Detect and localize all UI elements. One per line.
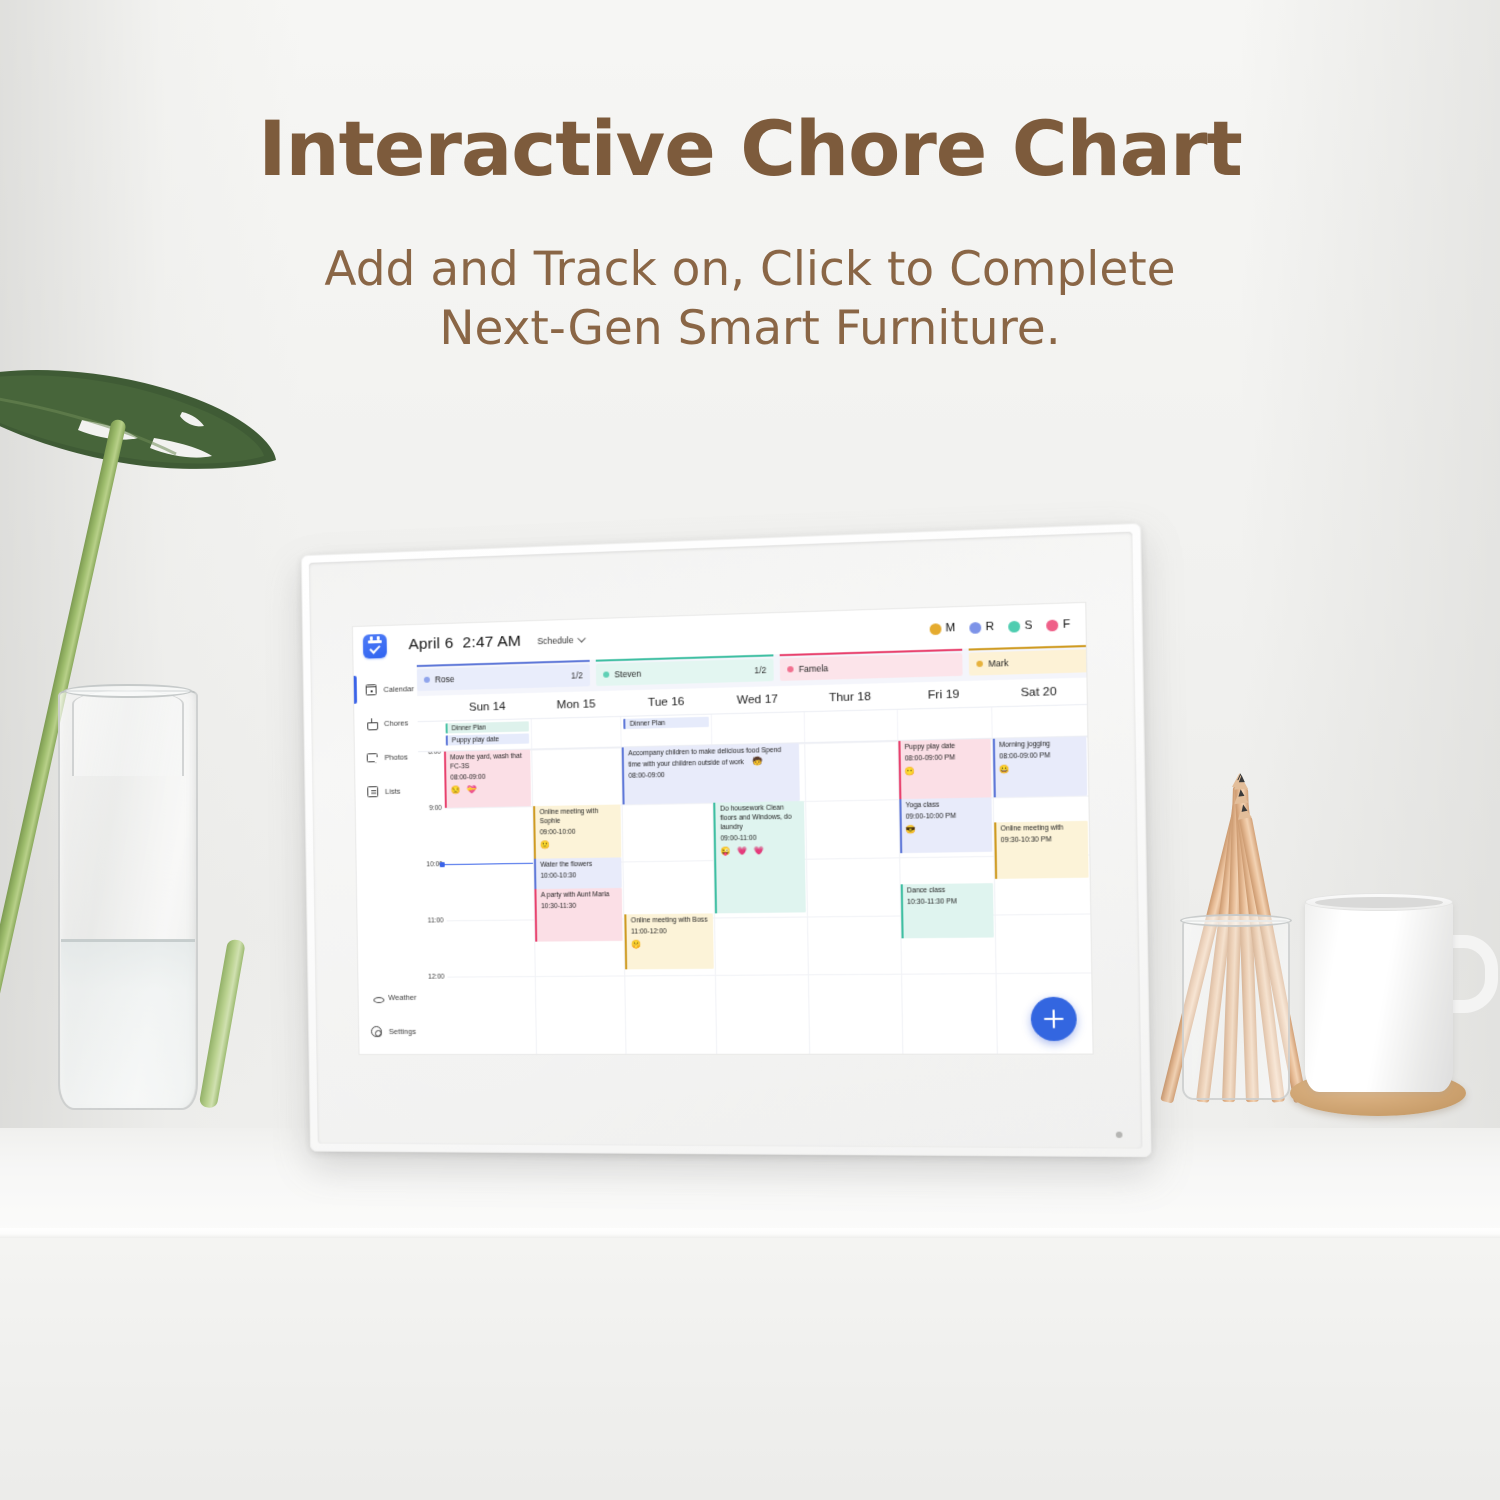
sidebar-item-chores[interactable]: Chores <box>354 705 418 741</box>
day-column-sun[interactable]: Mow the yard, wash that FC-3S 08:00-09:0… <box>444 750 537 1054</box>
person-chip-steven[interactable]: Steven 1/2 <box>596 658 774 686</box>
day-header-thur[interactable]: Thur 18 <box>803 690 896 705</box>
sidebar-label-photos: Photos <box>384 752 408 762</box>
event-title: Puppy play date <box>904 742 986 753</box>
event-emoji: 😎 <box>906 824 988 837</box>
person-chip-famela[interactable]: Famela <box>780 653 963 681</box>
day-header-mon[interactable]: Mon 15 <box>531 697 621 712</box>
sidebar-item-weather[interactable]: Weather <box>358 980 422 1014</box>
view-selector-label: Schedule <box>537 635 573 646</box>
gear-icon <box>371 1026 382 1037</box>
event-time: 09:00-11:00 <box>720 834 800 844</box>
event-title: Water the flowers <box>540 861 618 871</box>
event-card[interactable]: Puppy play date 08:00-09:00 PM 😶 <box>898 739 991 799</box>
person-dot-mark <box>976 661 983 667</box>
event-time: 08:00-09:00 <box>628 769 795 782</box>
device-sensor-dot <box>1116 1132 1123 1138</box>
white-mug <box>1305 900 1453 1092</box>
event-emoji: 🙂 <box>540 839 618 851</box>
promo-subheadline: Add and Track on, Click to Complete Next… <box>0 240 1500 358</box>
event-time: 08:00-09:00 PM <box>999 751 1082 762</box>
chevron-down-icon <box>578 634 587 643</box>
person-dot-steven <box>603 671 609 677</box>
vase-lip <box>64 684 192 698</box>
event-time: 09:30-10:30 PM <box>1001 836 1084 847</box>
day-column-fri[interactable]: Puppy play date 08:00-09:00 PM 😶 Yoga cl… <box>898 739 998 1054</box>
event-title: Online meeting with Boss <box>631 917 710 927</box>
event-time: 10:30-11:30 <box>541 902 619 912</box>
time-label: 12:00 <box>428 974 445 981</box>
event-card[interactable]: Dance class 10:30-11:30 PM <box>900 883 993 938</box>
vase-neck <box>72 690 184 776</box>
sidebar-item-calendar[interactable]: Calendar <box>354 671 418 707</box>
all-day-event[interactable]: Puppy play date <box>446 733 530 745</box>
legend-label-f: F <box>1063 618 1071 631</box>
event-title: Accompany children to make delicious foo… <box>628 747 795 771</box>
legend-dot-s <box>1008 620 1020 632</box>
day-header-sun[interactable]: Sun 14 <box>443 700 531 714</box>
glass-pencil-cup <box>1182 920 1290 1100</box>
pencil-cup-lip <box>1180 914 1292 927</box>
event-card[interactable]: Online meeting with Boss 11:00-12:00 🤫 <box>625 913 715 969</box>
vase-water <box>61 940 195 1108</box>
sidebar-item-settings[interactable]: Settings <box>359 1014 423 1048</box>
photo-add-icon <box>367 753 378 762</box>
event-time: 09:00-10:00 <box>540 828 618 838</box>
sidebar-label-calendar: Calendar <box>383 684 414 694</box>
person-count-steven: 1/2 <box>746 665 766 675</box>
legend-dot-m <box>929 623 941 635</box>
event-card[interactable]: Online meeting with Sophie 09:00-10:00 🙂 <box>533 804 621 858</box>
header-date: April 6 <box>408 635 453 653</box>
event-title: Online meeting with <box>1000 824 1083 835</box>
day-header-wed[interactable]: Wed 17 <box>712 692 804 707</box>
legend-item[interactable]: R <box>969 621 994 634</box>
page-title: April 62:47 AM <box>408 633 521 655</box>
promo-subheadline-line1: Add and Track on, Click to Complete <box>0 240 1500 299</box>
legend-item[interactable]: M <box>929 622 955 635</box>
event-card[interactable]: Yoga class 09:00-10:00 PM 😎 <box>899 797 992 853</box>
shelf-front-panel <box>0 1238 1500 1500</box>
member-legend: M R S F <box>929 618 1072 635</box>
event-emoji: 😶 <box>905 765 987 778</box>
day-column-mon[interactable]: Online meeting with Sophie 09:00-10:00 🙂… <box>532 747 626 1053</box>
person-dot-famela <box>787 666 793 672</box>
promo-subheadline-line2: Next-Gen Smart Furniture. <box>0 299 1500 358</box>
app-body: Calendar Chores Photos Lists <box>354 645 1093 1054</box>
event-time: 10:30-11:30 PM <box>907 898 989 908</box>
header-time: 2:47 AM <box>462 633 521 652</box>
sidebar-item-lists[interactable]: Lists <box>355 773 419 808</box>
all-day-gutter <box>418 721 444 751</box>
time-grid: 8:00 9:00 10:00 11:00 12:00 <box>418 737 1092 1054</box>
list-icon <box>367 786 378 797</box>
event-title: Online meeting with Sophie <box>539 808 617 827</box>
event-emoji: 😒 💝 <box>450 784 527 796</box>
calendar-icon <box>366 684 377 695</box>
person-count-rose: 1/2 <box>563 671 583 681</box>
sidebar-label-settings: Settings <box>389 1026 416 1035</box>
smart-display-device: April 62:47 AM Schedule M R <box>301 523 1152 1157</box>
day-column-tue[interactable]: Accompany children to make delicious foo… <box>622 745 718 1054</box>
legend-dot-r <box>969 621 981 633</box>
person-name-steven: Steven <box>614 669 641 680</box>
sidebar-label-weather: Weather <box>388 992 416 1001</box>
all-day-col-tue: Dinner Plan <box>621 715 712 747</box>
event-time: 08:00-09:00 PM <box>905 753 987 764</box>
promo-headline: Interactive Chore Chart <box>0 104 1500 193</box>
calendar-area: Rose 1/2 Steven 1/2 Famela <box>417 645 1093 1054</box>
all-day-col-wed <box>712 712 804 744</box>
event-time: 11:00-12:00 <box>631 928 710 938</box>
event-title: Do housework Clean floors and Windows, d… <box>720 804 800 833</box>
event-title: Mow the yard, wash that FC-3S <box>450 753 527 773</box>
shelf-edge <box>0 1228 1500 1238</box>
time-label: 11:00 <box>428 917 444 924</box>
all-day-col-fri <box>898 707 993 740</box>
event-title: Yoga class <box>905 801 987 812</box>
person-name-rose: Rose <box>435 674 455 685</box>
person-name-mark: Mark <box>988 658 1008 669</box>
event-card[interactable]: Water the flowers 10:00-10:30 <box>534 857 622 889</box>
person-chip-mark[interactable]: Mark <box>969 647 1087 676</box>
event-card[interactable]: Mow the yard, wash that FC-3S 08:00-09:0… <box>444 750 531 808</box>
monstera-leaf <box>0 368 286 568</box>
event-emoji: 😀 <box>1000 763 1083 776</box>
legend-label-s: S <box>1024 619 1032 632</box>
person-chip-rose[interactable]: Rose 1/2 <box>417 664 590 691</box>
legend-item[interactable]: F <box>1046 618 1070 631</box>
event-card[interactable]: Do housework Clean floors and Windows, d… <box>714 801 806 913</box>
event-title: Morning jogging <box>999 740 1082 751</box>
time-label: 9:00 <box>429 805 442 812</box>
event-title: Dance class <box>907 886 989 896</box>
sidebar-item-photos[interactable]: Photos <box>355 739 419 774</box>
sidebar-spacer <box>356 807 422 980</box>
day-columns: Mow the yard, wash that FC-3S 08:00-09:0… <box>444 737 1093 1054</box>
event-time: 08:00-09:00 <box>450 773 527 784</box>
all-day-col-thur <box>804 710 898 742</box>
day-column-thur[interactable] <box>805 741 903 1054</box>
current-time-line <box>442 863 533 866</box>
event-emoji: 🧒 <box>752 756 763 765</box>
event-card[interactable]: A party with Aunt Maria 10:30-11:30 <box>535 888 623 942</box>
event-title: A party with Aunt Maria <box>541 891 619 901</box>
event-time: 10:00-10:30 <box>540 872 618 882</box>
add-event-button[interactable] <box>1031 997 1077 1041</box>
all-day-col-sat <box>992 705 1087 738</box>
legend-label-m: M <box>945 622 955 635</box>
event-emoji: 🤫 <box>631 939 710 951</box>
vase-water-line <box>61 939 195 942</box>
all-day-event[interactable]: Dinner Plan <box>624 717 710 729</box>
all-day-event[interactable]: Dinner Plan <box>446 721 530 733</box>
sidebar: Calendar Chores Photos Lists <box>354 665 423 1054</box>
legend-item[interactable]: S <box>1008 619 1032 632</box>
mug-interior <box>1315 897 1443 908</box>
device-screen: April 62:47 AM Schedule M R <box>353 603 1093 1054</box>
all-day-col-mon <box>532 717 622 749</box>
day-header-fri[interactable]: Fri 19 <box>896 687 991 702</box>
sidebar-label-lists: Lists <box>385 786 401 795</box>
sidebar-label-chores: Chores <box>384 718 408 728</box>
event-time: 09:00-10:00 PM <box>906 812 988 823</box>
event-card[interactable]: Accompany children to make delicious foo… <box>622 743 800 804</box>
day-header-tue[interactable]: Tue 16 <box>621 695 712 710</box>
person-name-famela: Famela <box>799 663 829 674</box>
event-emoji: 😜 💗 💗 <box>721 845 801 857</box>
calendar-app: April 62:47 AM Schedule M R <box>353 603 1093 1054</box>
legend-dot-f <box>1046 619 1058 631</box>
sun-icon <box>373 997 384 1003</box>
event-card[interactable]: Morning jogging 08:00-09:00 PM 😀 <box>993 737 1088 798</box>
all-day-col-sun: Dinner Plan Puppy play date <box>443 719 532 750</box>
event-card[interactable]: Online meeting with 09:30-10:30 PM <box>994 821 1089 879</box>
day-header-sat[interactable]: Sat 20 <box>991 684 1087 699</box>
broom-icon <box>366 718 377 729</box>
legend-label-r: R <box>985 621 994 634</box>
calendar-check-app-icon[interactable] <box>363 634 387 659</box>
person-dot-rose <box>424 677 430 683</box>
view-selector[interactable]: Schedule <box>537 635 584 647</box>
time-gutter-spacer <box>417 708 443 709</box>
